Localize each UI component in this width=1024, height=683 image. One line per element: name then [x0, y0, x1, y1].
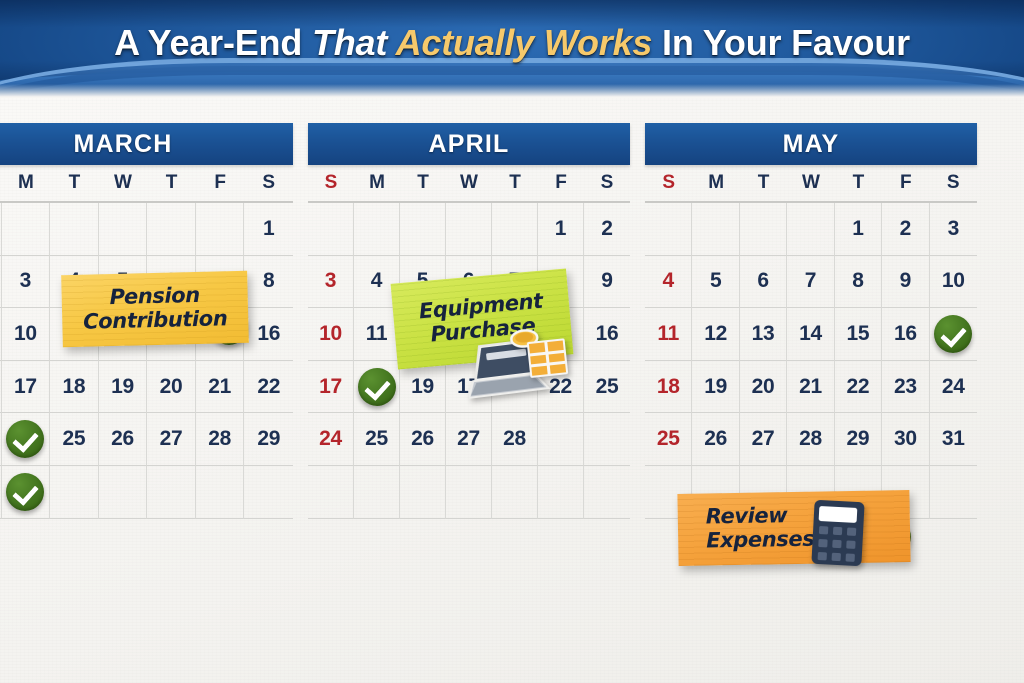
day-number: 15: [847, 322, 870, 346]
day-number: 22: [847, 375, 870, 399]
day-number: 16: [894, 322, 917, 346]
day-cell[interactable]: 28: [492, 413, 538, 466]
sticky-note-pension[interactable]: Pension Contribution: [61, 271, 249, 348]
day-cell[interactable]: 9: [882, 256, 929, 309]
weekday-label: W: [99, 172, 148, 194]
day-number: 17: [14, 375, 37, 399]
day-cell-checked[interactable]: [354, 361, 400, 414]
day-number: 28: [799, 427, 822, 451]
day-cell[interactable]: 1: [538, 203, 584, 256]
day-number: 31: [942, 427, 965, 451]
day-cell[interactable]: [2, 203, 51, 256]
day-cell[interactable]: 10: [930, 256, 977, 309]
weekday-label: S: [930, 172, 977, 194]
day-cell[interactable]: 12: [692, 308, 739, 361]
day-cell[interactable]: 11: [645, 308, 692, 361]
day-cell[interactable]: 3: [308, 256, 354, 309]
banner-bottom-fade: [0, 84, 1024, 98]
day-cell[interactable]: [538, 466, 584, 519]
day-cell[interactable]: 2: [584, 203, 630, 256]
calculator-icon: [810, 499, 865, 568]
day-number: 20: [160, 375, 183, 399]
weekday-label: T: [50, 172, 99, 194]
day-number: 30: [894, 427, 917, 451]
day-number: 11: [366, 322, 388, 346]
day-cell[interactable]: 28: [787, 413, 834, 466]
weekday-label: F: [538, 172, 584, 194]
day-cell[interactable]: 1: [835, 203, 882, 256]
page-background: A Year-End That Actually Works In Your F…: [0, 0, 1024, 683]
day-number: 27: [457, 427, 480, 451]
day-cell[interactable]: 28: [196, 413, 245, 466]
calendar-month-title-april: APRIL: [308, 123, 630, 165]
day-number: 25: [63, 427, 86, 451]
day-cell[interactable]: [50, 466, 99, 519]
weekday-label: W: [446, 172, 492, 194]
day-cell[interactable]: [787, 203, 834, 256]
day-number: 26: [704, 427, 727, 451]
day-cell[interactable]: [492, 203, 538, 256]
day-number: 8: [852, 269, 863, 293]
weekday-label: S: [584, 172, 630, 194]
day-number: 1: [852, 217, 863, 241]
day-number: 21: [208, 375, 231, 399]
day-cell[interactable]: [99, 466, 148, 519]
day-number: 25: [657, 427, 680, 451]
day-number: 24: [319, 427, 342, 451]
note-line-1: Review: [706, 504, 815, 530]
note-line-2: Expenses: [706, 528, 815, 554]
weekday-label: F: [196, 172, 245, 194]
day-number: 2: [601, 217, 612, 241]
day-number: 3: [325, 269, 336, 293]
day-cell[interactable]: 22: [835, 361, 882, 414]
day-number: 16: [596, 322, 619, 346]
day-cell[interactable]: [196, 203, 245, 256]
day-number: 19: [111, 375, 134, 399]
boxes-icon: [505, 324, 572, 384]
check-mark-icon: [6, 420, 44, 458]
day-number: 26: [411, 427, 434, 451]
weekday-label: M: [2, 172, 51, 194]
day-cell[interactable]: [308, 466, 354, 519]
calendar-month-title-may: MAY: [645, 123, 977, 165]
weekday-label: W: [787, 172, 834, 194]
day-cell[interactable]: 5: [692, 256, 739, 309]
day-cell[interactable]: 16: [584, 308, 630, 361]
day-cell[interactable]: [645, 203, 692, 256]
day-number: 28: [208, 427, 231, 451]
check-mark-icon: [358, 368, 396, 406]
day-cell[interactable]: 1: [244, 203, 293, 256]
weekday-header-may: S M T W T F S: [645, 165, 977, 203]
weekday-label: F: [882, 172, 929, 194]
day-number: 9: [601, 269, 612, 293]
day-grid-may: 1 2 3 4 5 6 7 8 9 10 11 12 13 14 15 16 1…: [645, 203, 977, 519]
day-cell-checked[interactable]: [2, 413, 51, 466]
day-number: 18: [657, 375, 680, 399]
day-number: 19: [704, 375, 727, 399]
day-number: 8: [263, 269, 274, 293]
weekday-label: M: [354, 172, 400, 194]
day-cell[interactable]: [692, 203, 739, 256]
day-cell[interactable]: [400, 466, 446, 519]
day-cell[interactable]: [196, 466, 245, 519]
day-number: 14: [799, 322, 822, 346]
day-cell-checked[interactable]: [930, 308, 977, 361]
day-cell[interactable]: 8: [835, 256, 882, 309]
weekday-label: T: [835, 172, 882, 194]
title-segment-highlight: Actually Works: [396, 22, 653, 63]
day-number: 25: [365, 427, 388, 451]
day-number: 29: [257, 427, 280, 451]
day-cell[interactable]: 16: [244, 308, 293, 361]
day-cell[interactable]: 20: [740, 361, 787, 414]
check-mark-icon: [934, 315, 972, 353]
day-number: 10: [14, 322, 37, 346]
weekday-label: T: [147, 172, 196, 194]
day-cell[interactable]: 20: [147, 361, 196, 414]
day-cell[interactable]: 27: [446, 413, 492, 466]
day-number: 22: [257, 375, 280, 399]
weekday-header-april: S M T W T F S: [308, 165, 630, 203]
day-cell[interactable]: 14: [787, 308, 834, 361]
day-cell[interactable]: [584, 466, 630, 519]
day-cell[interactable]: [538, 413, 584, 466]
day-cell[interactable]: [446, 203, 492, 256]
day-cell[interactable]: 30: [882, 413, 929, 466]
day-number: 17: [319, 375, 342, 399]
day-number: 27: [752, 427, 775, 451]
title-segment-2: In Your Favour: [652, 22, 910, 63]
day-cell[interactable]: 13: [740, 308, 787, 361]
day-cell[interactable]: 18: [645, 361, 692, 414]
weekday-label: S: [308, 172, 354, 194]
day-number: 6: [757, 269, 768, 293]
day-cell[interactable]: 31: [930, 413, 977, 466]
day-cell[interactable]: 19: [99, 361, 148, 414]
day-cell[interactable]: [354, 203, 400, 256]
day-cell[interactable]: [50, 203, 99, 256]
day-number: 28: [503, 427, 526, 451]
day-number: 3: [20, 269, 31, 293]
day-number: 23: [894, 375, 917, 399]
day-cell[interactable]: 26: [692, 413, 739, 466]
day-cell[interactable]: [930, 466, 977, 519]
day-cell[interactable]: 7: [787, 256, 834, 309]
day-cell[interactable]: 29: [835, 413, 882, 466]
day-cell[interactable]: 10: [2, 308, 51, 361]
day-number: 10: [942, 269, 965, 293]
note-line-2: Contribution: [76, 307, 235, 335]
page-title: A Year-End That Actually Works In Your F…: [0, 22, 1024, 64]
day-cell[interactable]: [147, 466, 196, 519]
day-cell[interactable]: 8: [244, 256, 293, 309]
calendar-month-title-march: MARCH: [0, 123, 293, 165]
day-cell[interactable]: [446, 466, 492, 519]
day-cell[interactable]: [244, 466, 293, 519]
day-number: 1: [555, 217, 566, 241]
day-cell[interactable]: 29: [244, 413, 293, 466]
day-cell[interactable]: 22: [244, 361, 293, 414]
title-segment-em: That: [312, 22, 396, 63]
day-number: 1: [263, 217, 274, 241]
day-cell[interactable]: 25: [645, 413, 692, 466]
day-cell-checked[interactable]: [2, 466, 51, 519]
day-cell[interactable]: [400, 203, 446, 256]
day-cell[interactable]: 6: [740, 256, 787, 309]
day-grid-march: 1 2 3 4 5 6 7 8 9 10 11 12 13 14 16 16 1…: [0, 203, 293, 519]
calendar-may: MAY S M T W T F S 1 2 3 4 5 6 7 8 9 10 1…: [645, 123, 977, 519]
day-cell[interactable]: 4: [645, 256, 692, 309]
title-segment-1: A Year-End: [114, 22, 312, 63]
day-number: 2: [900, 217, 911, 241]
day-number: 12: [704, 322, 727, 346]
day-cell[interactable]: 24: [930, 361, 977, 414]
day-cell[interactable]: 23: [882, 361, 929, 414]
weekday-label: S: [244, 172, 293, 194]
day-cell[interactable]: [99, 203, 148, 256]
day-cell[interactable]: 26: [400, 413, 446, 466]
day-number: 21: [799, 375, 822, 399]
check-mark-icon: [6, 473, 44, 511]
day-cell[interactable]: [147, 203, 196, 256]
day-number: 24: [942, 375, 965, 399]
day-cell[interactable]: 21: [787, 361, 834, 414]
weekday-label: T: [400, 172, 446, 194]
day-cell[interactable]: 2: [882, 203, 929, 256]
day-number: 18: [63, 375, 86, 399]
day-cell[interactable]: 3: [930, 203, 977, 256]
day-cell[interactable]: 24: [308, 413, 354, 466]
day-cell[interactable]: 17: [308, 361, 354, 414]
day-cell[interactable]: [740, 203, 787, 256]
day-cell[interactable]: 25: [354, 413, 400, 466]
day-cell[interactable]: 19: [692, 361, 739, 414]
day-cell[interactable]: 15: [835, 308, 882, 361]
weekday-label: T: [492, 172, 538, 194]
day-number: 27: [160, 427, 183, 451]
sticky-note-review[interactable]: Review Expenses: [677, 490, 910, 566]
day-number: 4: [663, 269, 674, 293]
day-cell[interactable]: 10: [308, 308, 354, 361]
day-cell[interactable]: 16: [882, 308, 929, 361]
day-number: 7: [805, 269, 816, 293]
day-number: 29: [847, 427, 870, 451]
day-cell[interactable]: 27: [740, 413, 787, 466]
weekday-label: M: [692, 172, 739, 194]
day-number: 4: [371, 269, 382, 293]
weekday-label: S: [645, 172, 692, 194]
day-cell[interactable]: [308, 203, 354, 256]
day-cell[interactable]: [584, 413, 630, 466]
day-cell[interactable]: 18: [50, 361, 99, 414]
weekday-label: T: [740, 172, 787, 194]
day-number: 9: [900, 269, 911, 293]
day-cell[interactable]: 26: [99, 413, 148, 466]
day-cell[interactable]: 25: [50, 413, 99, 466]
day-cell[interactable]: 27: [147, 413, 196, 466]
day-cell[interactable]: [492, 466, 538, 519]
day-number: 26: [111, 427, 134, 451]
day-number: 13: [752, 322, 775, 346]
day-cell[interactable]: 21: [196, 361, 245, 414]
day-number: 20: [752, 375, 775, 399]
day-number: 11: [657, 322, 679, 346]
day-cell[interactable]: [354, 466, 400, 519]
weekday-header-march: S M T W T F S: [0, 165, 293, 203]
day-cell[interactable]: 3: [2, 256, 51, 309]
day-number: 5: [710, 269, 721, 293]
day-number: 3: [948, 217, 959, 241]
day-cell[interactable]: 25: [584, 361, 630, 414]
day-cell[interactable]: 17: [2, 361, 51, 414]
day-number: 19: [411, 375, 434, 399]
day-number: 16: [257, 322, 280, 346]
day-number: 10: [319, 322, 342, 346]
day-number: 25: [596, 375, 619, 399]
day-cell[interactable]: 9: [584, 256, 630, 309]
